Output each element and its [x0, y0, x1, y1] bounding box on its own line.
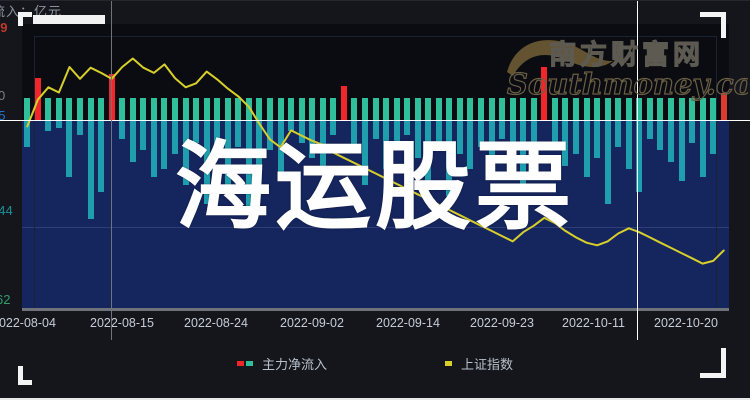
- y-axis-label-top: 89: [0, 20, 7, 35]
- x-axis-label-7: 2022-10-20: [654, 316, 718, 330]
- legend-marker-1: [445, 361, 452, 366]
- plot-bottom-baseline: [22, 308, 729, 311]
- legend-marker-0: [237, 361, 253, 366]
- page-top-border: [0, 0, 750, 1]
- legend-label-1: 上证指数: [461, 354, 513, 373]
- legend-label-0: 主力净流入: [262, 354, 327, 373]
- x-axis-label-1: 2022-08-15: [90, 316, 154, 330]
- frame-corner-tl-v: [18, 12, 23, 26]
- x-axis-label-2: 2022-08-24: [184, 316, 248, 330]
- chart-screenshot: 流入：亿元 89 0 25 644 62 2022-08-042022-08-1…: [0, 0, 750, 400]
- chart-legend[interactable]: 主力净流入上证指数: [0, 352, 750, 374]
- page-title: 海运股票: [0, 139, 750, 235]
- legend-item-1[interactable]: 上证指数: [445, 354, 513, 373]
- frame-corner-tr-v: [721, 12, 726, 38]
- x-axis-label-6: 2022-10-11: [562, 316, 625, 330]
- x-axis-label-4: 2022-09-14: [376, 316, 440, 330]
- y-axis-label-zero: 0: [0, 88, 5, 103]
- frame-corner-br-v: [721, 348, 726, 378]
- watermark-en-text: Southmoney.com: [507, 67, 748, 101]
- x-axis-label-3: 2022-09-02: [280, 316, 344, 330]
- legend-item-0[interactable]: 主力净流入: [237, 354, 327, 373]
- watermark-logo: 南方财富网 Southmoney.com: [505, 28, 748, 104]
- x-axis-label-0: 2022-08-04: [0, 316, 56, 330]
- y-axis-label-green: 62: [0, 292, 10, 307]
- x-axis-label-5: 2022-09-23: [470, 316, 534, 330]
- frame-corner-bl-v: [18, 366, 23, 385]
